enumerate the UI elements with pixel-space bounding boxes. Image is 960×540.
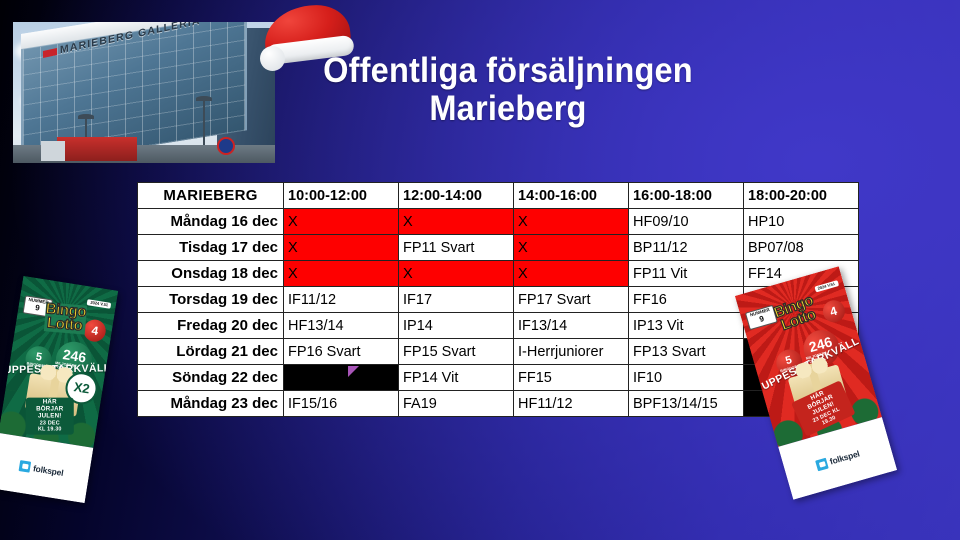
schedule-cell: I-Herrjuniorer (514, 339, 629, 365)
folkspel-name: folkspel (829, 449, 861, 467)
schedule-table-head: MARIEBERG 10:00-12:00 12:00-14:00 14:00-… (138, 183, 859, 209)
folkspel-mark-icon (815, 457, 829, 471)
schedule-cell: X (284, 261, 399, 287)
banner-line2: 23 DEC KL 19.30 (36, 420, 64, 432)
banner-line1: HÄR BÖRJAR JULEN! (36, 399, 64, 420)
schedule-cell: IF15/16 (284, 391, 399, 417)
schedule-cell: HP10 (744, 209, 859, 235)
folkspel-logo: folkspel (815, 448, 861, 471)
schedule-cell: HF09/10 (629, 209, 744, 235)
schedule-cell: X (399, 209, 514, 235)
schedule-day-label: Torsdag 19 dec (138, 287, 284, 313)
schedule-day-label: Onsdag 18 dec (138, 261, 284, 287)
sign-logo-icon (43, 48, 57, 58)
schedule-cell: IF10 (629, 365, 744, 391)
table-row: Måndag 23 decIF15/16FA19HF11/12BPF13/14/… (138, 391, 859, 417)
schedule-day-label: Fredag 20 dec (138, 313, 284, 339)
schedule-cell: FP11 Vit (629, 261, 744, 287)
table-row: Tisdag 17 decXFP11 SvartXBP11/12BP07/08 (138, 235, 859, 261)
table-row: Måndag 16 decXXXHF09/10HP10 (138, 209, 859, 235)
logo-line2: Lotto (44, 316, 86, 334)
ticket-banner: HÄR BÖRJAR JULEN! 23 DEC KL 19.30 (26, 397, 74, 434)
page-title-line2: Marieberg (266, 90, 750, 128)
schedule-day-label: Söndag 22 dec (138, 365, 284, 391)
ticket-artwork: NUMMER9 2024 V.51 4 Bingo Lotto 5 BINGOS… (0, 276, 118, 448)
folkspel-mark-icon (19, 460, 32, 473)
schedule-day-label: Måndag 23 dec (138, 391, 284, 417)
no-parking-sign-icon (217, 137, 235, 155)
schedule-cell: FP17 Svart (514, 287, 629, 313)
time-slot-header: 14:00-16:00 (514, 183, 629, 209)
time-slot-header: 12:00-14:00 (399, 183, 514, 209)
bingolotto-ticket-red: NUMMER9 2024 V.51 4 Bingo Lotto 5 BINGOS… (735, 266, 897, 500)
slide-canvas: MARIEBERG GALLERIA Offentliga försäljnin… (0, 0, 960, 540)
schedule-header-row: MARIEBERG 10:00-12:00 12:00-14:00 14:00-… (138, 183, 859, 209)
schedule-cell: IP14 (399, 313, 514, 339)
schedule-cell: X (514, 235, 629, 261)
schedule-cell: X (284, 209, 399, 235)
schedule-cell: BP11/12 (629, 235, 744, 261)
schedule-day-label: Måndag 16 dec (138, 209, 284, 235)
ticket-artwork: NUMMER9 2024 V.51 4 Bingo Lotto 5 BINGOS… (735, 266, 882, 447)
schedule-cell: FA19 (399, 391, 514, 417)
schedule-corner-label: MARIEBERG (138, 183, 284, 209)
schedule-cell: IF11/12 (284, 287, 399, 313)
schedule-cell: IP13 Vit (629, 313, 744, 339)
schedule-cell: BP07/08 (744, 235, 859, 261)
table-row: Onsdag 18 decXXXFP11 VitFF14 (138, 261, 859, 287)
schedule-day-label: Tisdag 17 dec (138, 235, 284, 261)
purple-highlight-marker (348, 366, 359, 377)
truck-cab (41, 141, 65, 161)
page-title: Offentliga försäljningen Marieberg (266, 52, 750, 128)
schedule-cell: FP11 Svart (399, 235, 514, 261)
bingolotto-ticket-green: NUMMER9 2024 V.51 4 Bingo Lotto 5 BINGOS… (0, 276, 118, 503)
schedule-cell (284, 365, 399, 391)
table-row: Söndag 22 decFP14 VitFF15IF10 (138, 365, 859, 391)
page-title-line1: Offentliga försäljningen (266, 52, 750, 90)
schedule-cell: IF17 (399, 287, 514, 313)
schedule-cell: HF11/12 (514, 391, 629, 417)
schedule-day-label: Lördag 21 dec (138, 339, 284, 365)
time-slot-header: 16:00-18:00 (629, 183, 744, 209)
marieberg-galleria-photo: MARIEBERG GALLERIA (13, 22, 275, 163)
schedule-cell: HF13/14 (284, 313, 399, 339)
schedule-cell: X (514, 209, 629, 235)
schedule-cell: FP13 Svart (629, 339, 744, 365)
schedule-cell: X (399, 261, 514, 287)
schedule-cell: FF15 (514, 365, 629, 391)
schedule-cell: FP15 Svart (399, 339, 514, 365)
schedule-cell: FF16 (629, 287, 744, 313)
bingolotto-logo: Bingo Lotto (44, 302, 87, 334)
schedule-cell: X (284, 235, 399, 261)
schedule-cell: FP16 Svart (284, 339, 399, 365)
red-truck (57, 137, 137, 161)
schedule-cell: FP14 Vit (399, 365, 514, 391)
folkspel-logo: folkspel (19, 460, 65, 478)
time-slot-header: 18:00-20:00 (744, 183, 859, 209)
schedule-cell: X (514, 261, 629, 287)
ball-value: 5 (35, 351, 43, 364)
time-slot-header: 10:00-12:00 (284, 183, 399, 209)
schedule-cell: BPF13/14/15 (629, 391, 744, 417)
folkspel-name: folkspel (32, 463, 64, 478)
schedule-cell: IF13/14 (514, 313, 629, 339)
